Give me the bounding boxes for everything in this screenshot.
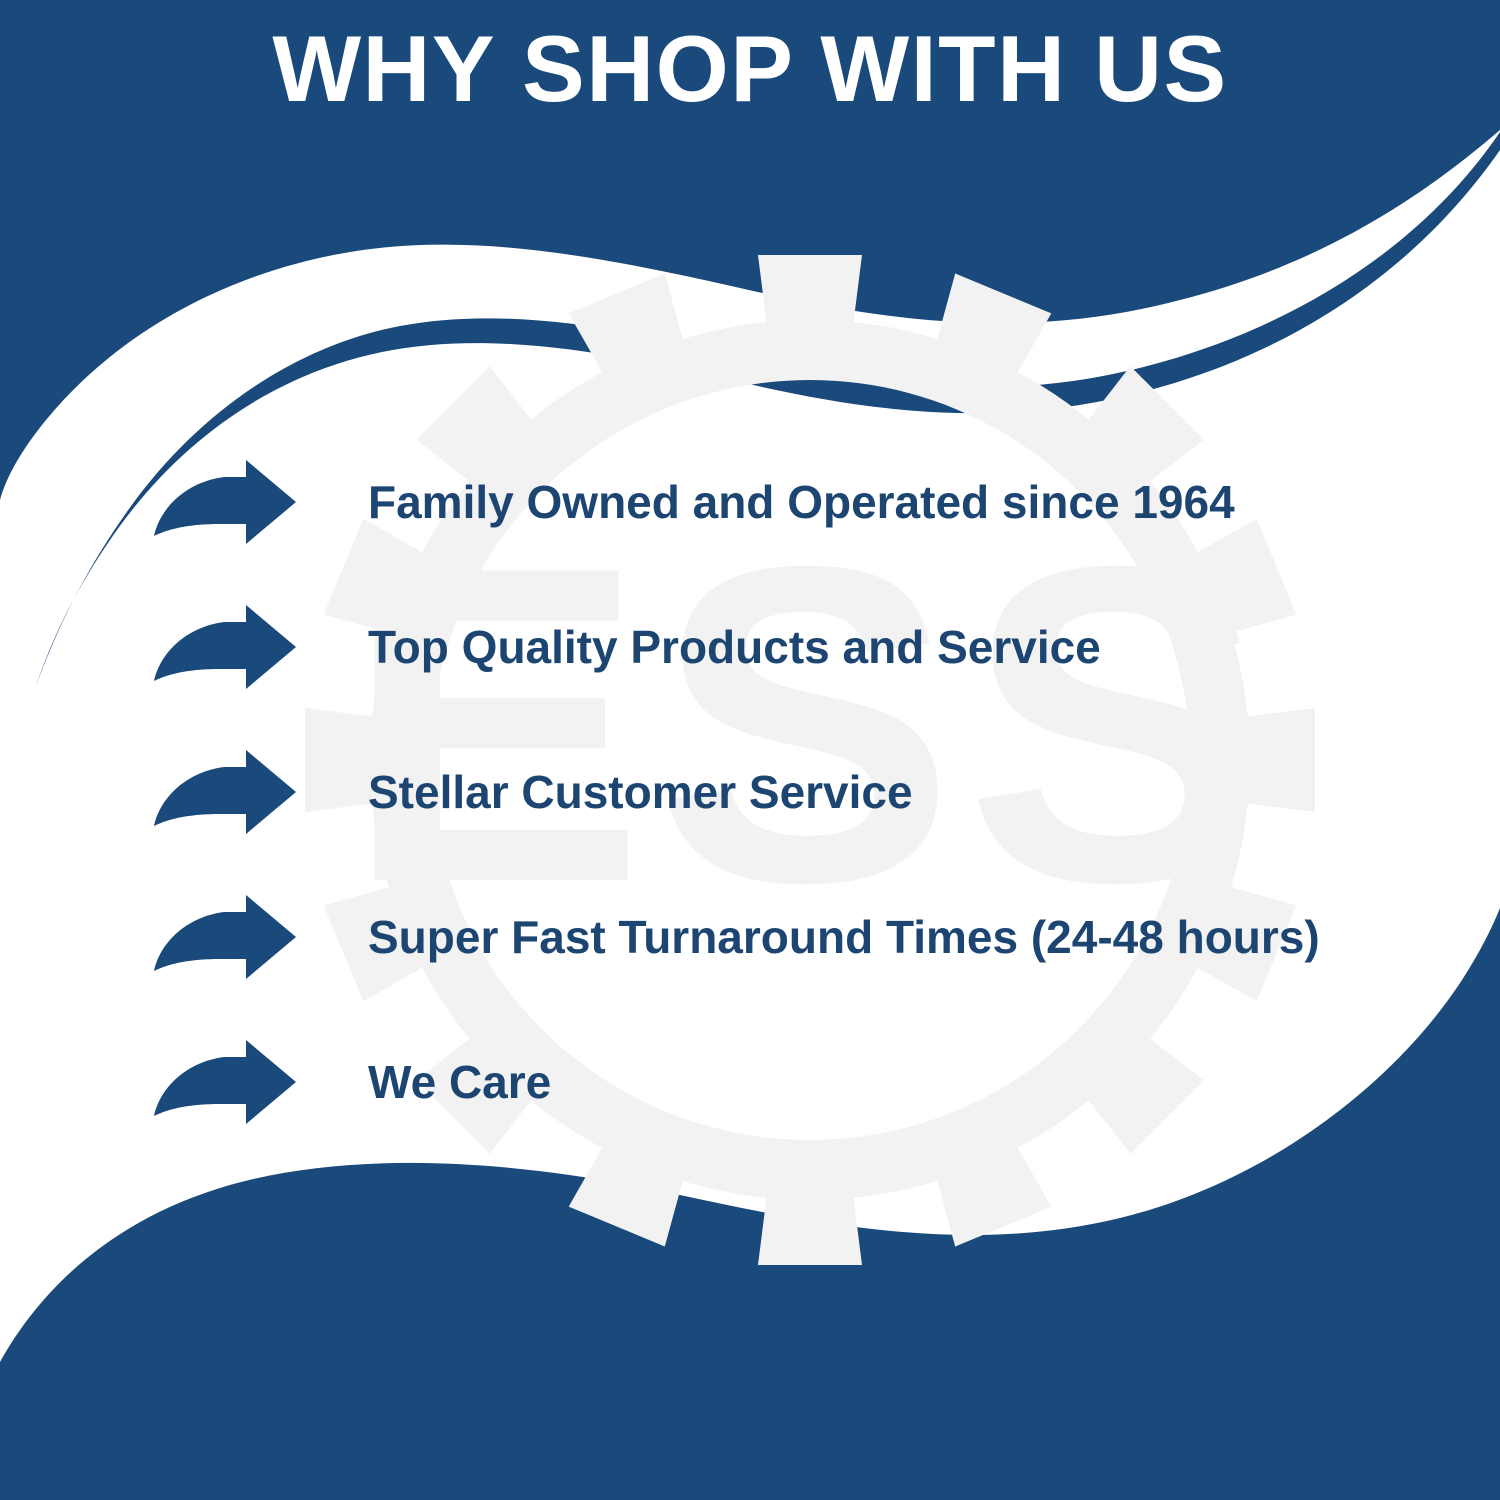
curved-arrow-right-icon <box>150 893 300 983</box>
page-title: WHY SHOP WITH US <box>272 0 1227 116</box>
list-item-label: Super Fast Turnaround Times (24-48 hours… <box>368 911 1450 964</box>
curved-arrow-right-icon <box>150 748 300 838</box>
list-item-label: Top Quality Products and Service <box>368 621 1450 674</box>
list-item-label: Family Owned and Operated since 1964 <box>368 476 1450 529</box>
list-item: Top Quality Products and Service <box>150 575 1450 720</box>
header-band: WHY SHOP WITH US <box>0 0 1500 150</box>
curved-arrow-right-icon <box>150 458 300 548</box>
list-item-label: Stellar Customer Service <box>368 766 1450 819</box>
curved-arrow-right-icon <box>150 1038 300 1128</box>
benefits-list: Family Owned and Operated since 1964 Top… <box>150 430 1450 1155</box>
why-shop-with-us-poster: ESS WHY SHOP WITH US Family Owned and Op… <box>0 0 1500 1500</box>
curved-arrow-right-icon <box>150 603 300 693</box>
top-wave-shape <box>0 0 1500 500</box>
list-item: Stellar Customer Service <box>150 720 1450 865</box>
list-item-label: We Care <box>368 1056 1450 1109</box>
list-item: Family Owned and Operated since 1964 <box>150 430 1450 575</box>
list-item: We Care <box>150 1010 1450 1155</box>
list-item: Super Fast Turnaround Times (24-48 hours… <box>150 865 1450 1010</box>
